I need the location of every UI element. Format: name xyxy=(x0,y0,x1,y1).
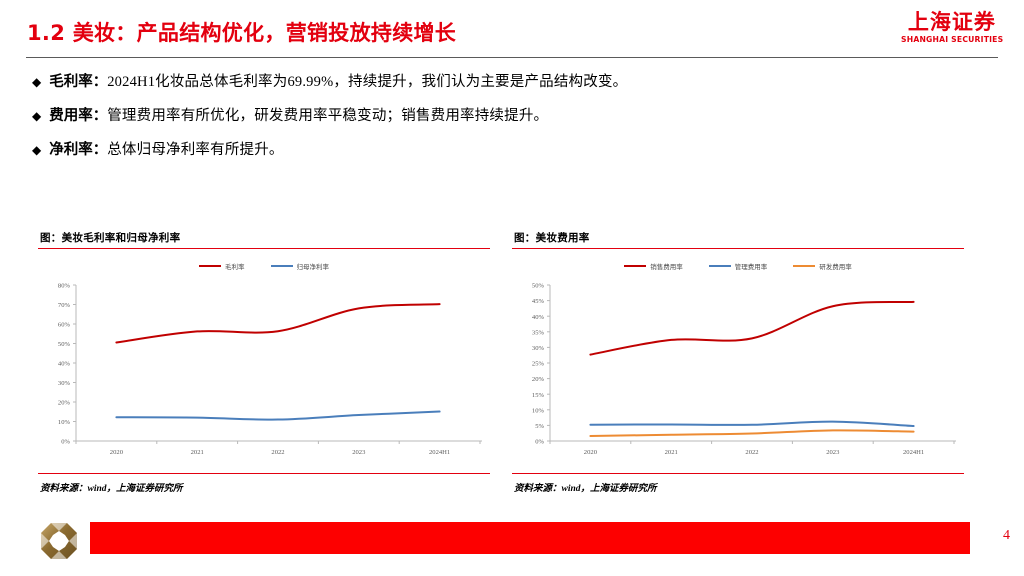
y-axis-tick-label: 15% xyxy=(532,392,545,399)
bullet-label: 费用率： xyxy=(49,104,107,125)
y-axis-tick-label: 40% xyxy=(58,361,71,368)
chart-title-divider xyxy=(38,248,490,249)
chart-legend: 毛利率归母净利率 xyxy=(38,261,490,271)
legend-label: 归母净利率 xyxy=(297,261,330,271)
y-axis-tick-label: 60% xyxy=(58,322,71,329)
chart-source-note: 资料来源：wind，上海证券研究所 xyxy=(38,473,490,494)
bullet-text: 2024H1化妆品总体毛利率为69.99%，持续提升，我们认为主要是产品结构改变… xyxy=(107,70,627,91)
bullet-item-gross-margin: ◆ 毛利率： 2024H1化妆品总体毛利率为69.99%，持续提升，我们认为主要… xyxy=(32,70,932,91)
y-axis-tick-label: 50% xyxy=(58,341,71,348)
y-axis-tick-label: 20% xyxy=(532,377,545,384)
diamond-bullet-icon: ◆ xyxy=(32,76,41,88)
legend-color-swatch xyxy=(709,265,731,267)
legend-color-swatch xyxy=(271,265,293,267)
chart-plot-area: 0%5%10%15%20%25%30%35%40%45%50%202020212… xyxy=(512,277,964,467)
chart-plot-area: 0%10%20%30%40%50%60%70%80%20202021202220… xyxy=(38,277,490,467)
legend-label: 管理费用率 xyxy=(735,261,768,271)
brand-name-cn: 上海证券 xyxy=(902,12,1002,33)
y-axis-tick-label: 30% xyxy=(58,380,71,387)
bullet-text: 管理费用率有所优化，研发费用率平稳变动；销售费用率持续提升。 xyxy=(107,104,548,125)
bullet-list: ◆ 毛利率： 2024H1化妆品总体毛利率为69.99%，持续提升，我们认为主要… xyxy=(32,70,932,172)
data-series-line xyxy=(590,431,913,437)
y-axis-tick-label: 45% xyxy=(532,299,545,306)
legend-color-swatch xyxy=(199,265,221,267)
legend-item: 研发费用率 xyxy=(793,261,852,271)
y-axis-tick-label: 10% xyxy=(532,408,545,415)
chart-title: 图：美妆费用率 xyxy=(512,230,964,245)
y-axis-tick-label: 50% xyxy=(532,283,545,290)
chart-panel-margins: 图：美妆毛利率和归母净利率 毛利率归母净利率 0%10%20%30%40%50%… xyxy=(38,230,490,502)
x-axis-tick-label: 2023 xyxy=(826,449,840,456)
legend-color-swatch xyxy=(793,265,815,267)
legend-item: 销售费用率 xyxy=(624,261,683,271)
y-axis-tick-label: 0% xyxy=(535,439,544,446)
x-axis-tick-label: 2024H1 xyxy=(903,449,924,456)
page-number: 4 xyxy=(1003,528,1010,544)
diamond-bullet-icon: ◆ xyxy=(32,144,41,156)
x-axis-tick-label: 2023 xyxy=(352,449,366,456)
y-axis-tick-label: 0% xyxy=(61,439,70,446)
diamond-bullet-icon: ◆ xyxy=(32,110,41,122)
chart-legend: 销售费用率管理费用率研发费用率 xyxy=(512,261,964,271)
legend-item: 归母净利率 xyxy=(271,261,330,271)
x-axis-tick-label: 2021 xyxy=(191,449,204,456)
y-axis-tick-label: 40% xyxy=(532,314,545,321)
line-chart-svg: 0%10%20%30%40%50%60%70%80%20202021202220… xyxy=(38,277,490,467)
legend-item: 毛利率 xyxy=(199,261,245,271)
x-axis-tick-label: 2020 xyxy=(110,449,124,456)
x-axis-tick-label: 2022 xyxy=(271,449,284,456)
y-axis-tick-label: 35% xyxy=(532,330,545,337)
y-axis-tick-label: 10% xyxy=(58,419,71,426)
legend-label: 研发费用率 xyxy=(819,261,852,271)
bullet-item-expense-ratio: ◆ 费用率： 管理费用率有所优化，研发费用率平稳变动；销售费用率持续提升。 xyxy=(32,104,932,125)
x-axis-tick-label: 2024H1 xyxy=(429,449,450,456)
chart-source-note: 资料来源：wind，上海证券研究所 xyxy=(512,473,964,494)
data-series-line xyxy=(590,422,913,426)
chart-panel-expenses: 图：美妆费用率 销售费用率管理费用率研发费用率 0%5%10%15%20%25%… xyxy=(512,230,964,502)
slide-header: 1.2 美妆：产品结构优化，营销投放持续增长 上海证券 SHANGHAI SEC… xyxy=(0,0,1024,58)
y-axis-tick-label: 70% xyxy=(58,302,71,309)
chart-title: 图：美妆毛利率和归母净利率 xyxy=(38,230,490,245)
data-series-line xyxy=(116,412,439,420)
line-chart-svg: 0%5%10%15%20%25%30%35%40%45%50%202020212… xyxy=(512,277,964,467)
bullet-text: 总体归母净利率有所提升。 xyxy=(107,138,283,159)
legend-item: 管理费用率 xyxy=(709,261,768,271)
x-axis-tick-label: 2022 xyxy=(745,449,758,456)
legend-label: 销售费用率 xyxy=(650,261,683,271)
bullet-label: 净利率： xyxy=(49,138,107,159)
page-title: 1.2 美妆：产品结构优化，营销投放持续增长 xyxy=(27,17,456,47)
company-emblem-icon xyxy=(37,519,81,563)
x-axis-tick-label: 2021 xyxy=(665,449,678,456)
footer-bar xyxy=(90,522,970,554)
chart-title-divider xyxy=(512,248,964,249)
y-axis-tick-label: 25% xyxy=(532,361,545,368)
data-series-line xyxy=(590,302,913,355)
bullet-item-net-margin: ◆ 净利率： 总体归母净利率有所提升。 xyxy=(32,138,932,159)
brand-logo: 上海证券 SHANGHAI SECURITIES xyxy=(902,12,1002,44)
bullet-label: 毛利率： xyxy=(49,70,107,91)
legend-color-swatch xyxy=(624,265,646,267)
data-series-line xyxy=(116,305,439,343)
x-axis-tick-label: 2020 xyxy=(584,449,598,456)
brand-name-en: SHANGHAI SECURITIES xyxy=(901,36,1003,44)
y-axis-tick-label: 20% xyxy=(58,400,71,407)
y-axis-tick-label: 5% xyxy=(535,423,544,430)
y-axis-tick-label: 80% xyxy=(58,283,71,290)
y-axis-tick-label: 30% xyxy=(532,345,545,352)
legend-label: 毛利率 xyxy=(225,261,245,271)
header-divider xyxy=(26,57,998,58)
